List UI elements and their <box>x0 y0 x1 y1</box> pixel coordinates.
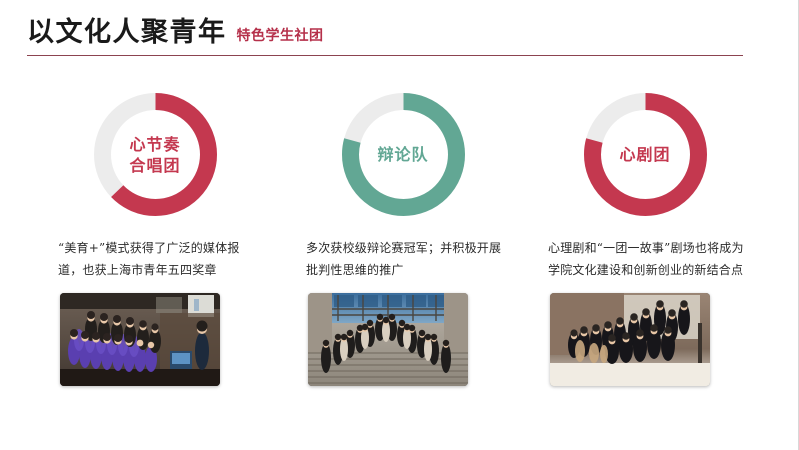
caption-1: “美育+”模式获得了广泛的媒体报道，也获上海市青年五四奖章 <box>40 237 270 281</box>
title-row: 以文化人聚青年 特色学生社团 <box>27 14 743 54</box>
photo-wrap-2 <box>288 293 518 386</box>
donut-ring-3: 心剧团 <box>578 87 713 222</box>
slide-header: 以文化人聚青年 特色学生社团 <box>27 14 743 60</box>
content-column-2: 辩论队 多次获校级辩论赛冠军；并积极开展批判性思维的推广 <box>288 82 518 386</box>
title-divider <box>27 55 743 56</box>
slide-canvas: 以文化人聚青年 特色学生社团 心节奏 合唱团 “美育+”模式获得了广泛的媒体报道… <box>0 0 799 450</box>
caption-3: 心理剧和“一团一故事”剧场也将成为学院文化建设和创新创业的新结合点 <box>530 237 760 281</box>
donut-label-3: 心剧团 <box>578 87 713 222</box>
donut-ring-2: 辩论队 <box>336 87 471 222</box>
page-subtitle: 特色学生社团 <box>237 26 324 46</box>
photo-wrap-1 <box>40 293 270 386</box>
caption-2: 多次获校级辩论赛冠军；并积极开展批判性思维的推广 <box>288 237 518 281</box>
donut-label-3-line1: 心剧团 <box>619 144 670 165</box>
page-title: 以文化人聚青年 <box>27 14 227 52</box>
donut-chart-debate: 辩论队 <box>288 82 518 227</box>
donut-ring-1: 心节奏 合唱团 <box>88 87 223 222</box>
donut-label-1: 心节奏 合唱团 <box>88 87 223 222</box>
photo-choir <box>60 293 220 386</box>
donut-label-1-line2: 合唱团 <box>129 155 180 176</box>
photo-debate <box>308 293 468 386</box>
photo-wrap-3 <box>530 293 760 386</box>
donut-label-1-line1: 心节奏 <box>129 134 180 155</box>
photo-debate-graphic <box>308 293 468 386</box>
photo-drama-graphic <box>550 293 710 386</box>
donut-chart-drama: 心剧团 <box>530 82 760 227</box>
donut-label-2-line1: 辩论队 <box>377 144 428 165</box>
donut-chart-choir: 心节奏 合唱团 <box>40 82 270 227</box>
photo-choir-graphic <box>60 293 220 386</box>
content-column-1: 心节奏 合唱团 “美育+”模式获得了广泛的媒体报道，也获上海市青年五四奖章 <box>40 82 270 386</box>
content-column-3: 心剧团 心理剧和“一团一故事”剧场也将成为学院文化建设和创新创业的新结合点 <box>530 82 760 386</box>
photo-drama <box>550 293 710 386</box>
donut-label-2: 辩论队 <box>336 87 471 222</box>
